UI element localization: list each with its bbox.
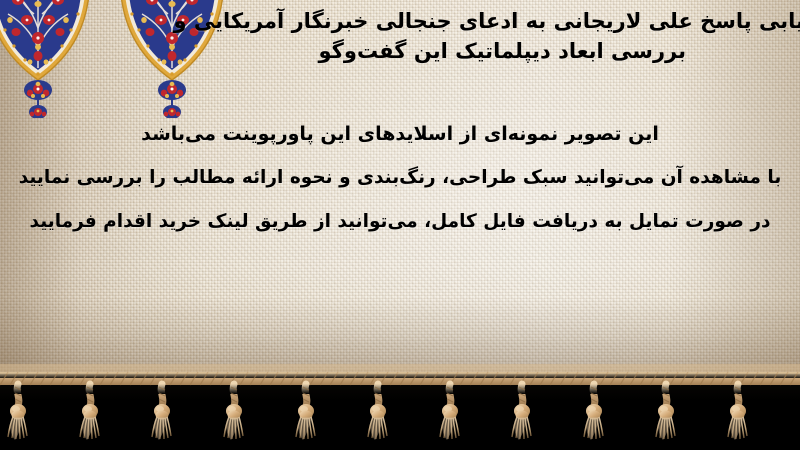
body-line-3: در صورت تمایل به دریافت فایل کامل، می‌تو…	[0, 200, 800, 244]
tassel-row	[8, 384, 747, 440]
fringe-svg	[0, 358, 800, 450]
fringe-border	[0, 358, 800, 450]
slide-title: زیابی پاسخ علی لاریجانی به ادعای جنجالی …	[26, 6, 796, 66]
title-line-2: بررسی ابعاد دیپلماتیک این گفت‌وگو	[26, 36, 686, 66]
slide-canvas: زیابی پاسخ علی لاریجانی به ادعای جنجالی …	[0, 0, 800, 450]
title-line-1: زیابی پاسخ علی لاریجانی به ادعای جنجالی …	[26, 6, 800, 36]
slide-body: این تصویر نمونه‌ای از اسلایدهای این پاور…	[0, 112, 800, 244]
body-line-2: با مشاهده آن می‌توانید سبک طراحی، رنگ‌بن…	[0, 156, 800, 200]
text-layer: زیابی پاسخ علی لاریجانی به ادعای جنجالی …	[0, 0, 800, 381]
body-line-1: این تصویر نمونه‌ای از اسلایدهای این پاور…	[0, 112, 800, 156]
